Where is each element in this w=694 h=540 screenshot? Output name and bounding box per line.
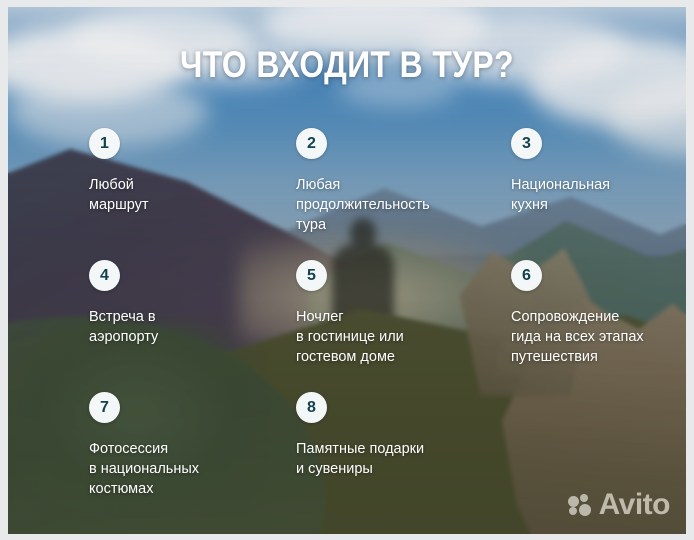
item-label: Национальная кухня xyxy=(511,175,686,215)
list-item-8: 8 Памятные подарки и сувениры xyxy=(296,392,496,479)
inclusions-grid: 1 Любой маршрут 2 Любая продолжительност… xyxy=(8,120,686,534)
avito-dots-icon xyxy=(568,494,592,516)
badge-number: 2 xyxy=(307,136,316,152)
number-badge-8: 8 xyxy=(296,392,327,423)
page-title: ЧТО ВХОДИТ В ТУР? xyxy=(55,45,638,85)
item-label: Любой маршрут xyxy=(89,175,279,215)
list-item-5: 5 Ночлег в гостинице или гостевом доме xyxy=(296,260,496,367)
badge-number: 3 xyxy=(522,136,531,152)
list-item-7: 7 Фотосессия в национальных костюмах xyxy=(89,392,279,499)
poster-content: ЧТО ВХОДИТ В ТУР? 1 Любой маршрут 2 Люба… xyxy=(8,7,686,534)
badge-number: 1 xyxy=(100,136,109,152)
item-label: Памятные подарки и сувениры xyxy=(296,439,496,479)
list-item-2: 2 Любая продолжительность тура xyxy=(296,128,496,235)
list-item-3: 3 Национальная кухня xyxy=(511,128,686,215)
number-badge-5: 5 xyxy=(296,260,327,291)
badge-number: 8 xyxy=(307,400,316,416)
avito-watermark: Avito xyxy=(568,490,670,520)
item-label: Встреча в аэропорту xyxy=(89,307,279,347)
poster-canvas: ЧТО ВХОДИТ В ТУР? 1 Любой маршрут 2 Люба… xyxy=(8,7,686,534)
number-badge-2: 2 xyxy=(296,128,327,159)
item-label: Фотосессия в национальных костюмах xyxy=(89,439,279,499)
avito-wordmark: Avito xyxy=(599,490,670,520)
tour-inclusions-poster: ЧТО ВХОДИТ В ТУР? 1 Любой маршрут 2 Люба… xyxy=(0,0,694,540)
number-badge-7: 7 xyxy=(89,392,120,423)
item-label: Ночлег в гостинице или гостевом доме xyxy=(296,307,496,367)
badge-number: 4 xyxy=(100,268,109,284)
list-item-4: 4 Встреча в аэропорту xyxy=(89,260,279,347)
item-label: Сопровождение гида на всех этапах путеше… xyxy=(511,307,686,367)
badge-number: 5 xyxy=(307,268,316,284)
list-item-1: 1 Любой маршрут xyxy=(89,128,279,215)
list-item-6: 6 Сопровождение гида на всех этапах путе… xyxy=(511,260,686,367)
number-badge-4: 4 xyxy=(89,260,120,291)
badge-number: 6 xyxy=(522,268,531,284)
badge-number: 7 xyxy=(100,400,109,416)
number-badge-1: 1 xyxy=(89,128,120,159)
number-badge-6: 6 xyxy=(511,260,542,291)
number-badge-3: 3 xyxy=(511,128,542,159)
item-label: Любая продолжительность тура xyxy=(296,175,496,235)
